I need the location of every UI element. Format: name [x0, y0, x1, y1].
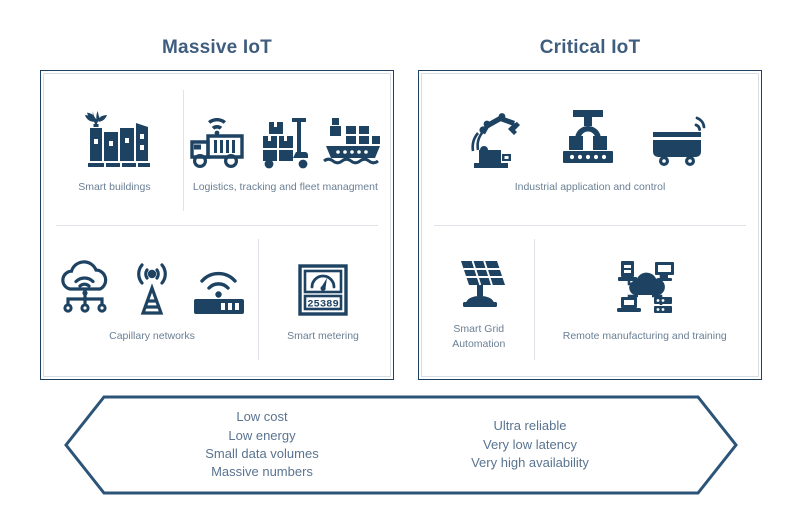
diagram-canvas: Massive IoT Critical IoT: [0, 0, 802, 509]
cell-smart-buildings[interactable]: Smart buildings: [46, 76, 183, 225]
cell-industrial-application[interactable]: Industrial application and control: [424, 76, 756, 225]
cell-smart-metering[interactable]: 25389 Smart metering: [258, 225, 388, 374]
agv-cart-icon: [647, 106, 711, 170]
banner-line: Low cost: [236, 408, 287, 426]
cell-tower-icon: [125, 259, 179, 319]
cell-capillary-networks[interactable]: Capillary networks: [46, 225, 258, 374]
icon-group: [54, 255, 250, 319]
meter-reading: 25389: [307, 299, 339, 311]
panel-row-bottom: Capillary networks: [46, 225, 388, 374]
attributes-banner: Low cost Low energy Small data volumes M…: [62, 393, 740, 497]
panel-row-bottom: Smart Grid Automation: [424, 225, 756, 374]
cell-label: Logistics, tracking and fleet managment: [193, 180, 378, 194]
cell-logistics[interactable]: Logistics, tracking and fleet managment: [183, 76, 388, 225]
icon-group: [607, 255, 683, 319]
cell-label: Capillary networks: [109, 329, 195, 343]
panel-massive-iot: Smart buildings: [40, 70, 394, 380]
solar-panel-icon: [448, 252, 510, 312]
cell-label: Smart Grid Automation: [430, 322, 528, 350]
banner-line: Very low latency: [483, 436, 577, 454]
banner-line: Very high availability: [471, 454, 589, 472]
cargo-ship-icon: [322, 112, 384, 170]
cell-remote-manufacturing[interactable]: Remote manufacturing and training: [534, 225, 756, 374]
panel-row-top: Smart buildings: [46, 76, 388, 225]
cloud-network-icon: [54, 259, 116, 319]
icon-group: [76, 106, 152, 170]
cell-label: Smart metering: [287, 329, 359, 343]
banner-line: Low energy: [228, 427, 295, 445]
cell-label: Remote manufacturing and training: [563, 329, 727, 343]
icon-group: [186, 106, 384, 170]
cell-label: Industrial application and control: [515, 180, 666, 194]
icon-group: [469, 106, 711, 170]
icon-group: [448, 248, 510, 312]
icon-group: 25389: [294, 255, 352, 319]
delivery-truck-icon: [186, 112, 250, 170]
hand-truck-boxes-icon: [259, 112, 313, 170]
banner-critical-attributes: Ultra reliable Very low latency Very hig…: [380, 393, 680, 497]
banner-line: Massive numbers: [211, 463, 313, 481]
cloud-devices-icon: [607, 257, 683, 319]
banner-massive-attributes: Low cost Low energy Small data volumes M…: [122, 393, 402, 497]
column-title-massive-iot: Massive IoT: [40, 37, 394, 59]
gripper-conveyor-icon: [557, 106, 619, 170]
banner-line: Small data volumes: [205, 445, 318, 463]
smart-building-icon: [76, 108, 152, 170]
column-title-critical-iot: Critical IoT: [418, 37, 762, 59]
cell-label: Smart buildings: [78, 180, 150, 194]
panel-row-top: Industrial application and control: [424, 76, 756, 225]
smart-meter-icon: 25389: [294, 261, 352, 319]
panel-critical-iot: Industrial application and control: [418, 70, 762, 380]
robot-arm-icon: [469, 106, 529, 170]
wifi-router-icon: [188, 259, 250, 319]
banner-line: Ultra reliable: [494, 417, 567, 435]
cell-smart-grid-automation[interactable]: Smart Grid Automation: [424, 225, 534, 374]
